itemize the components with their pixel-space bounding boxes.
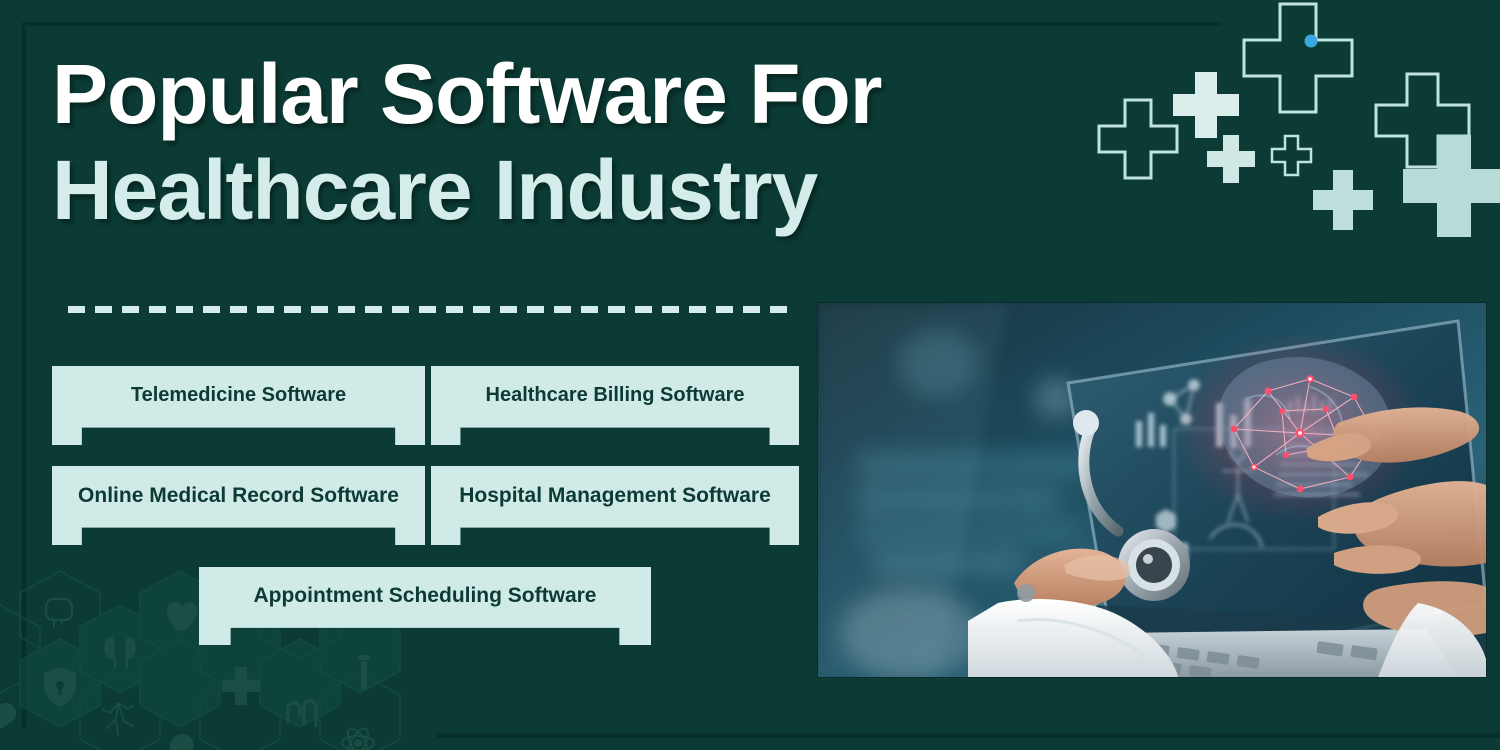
stethoscope-earpiece [1073,410,1099,436]
software-item-telemedicine[interactable]: Telemedicine Software [52,366,425,445]
frame-left-line [22,22,26,728]
heart-icon [167,602,198,631]
cross-outline-small [1272,136,1311,175]
infographic-canvas: Popular Software For Healthcare Industry… [0,0,1500,750]
software-item-healthcare-billing[interactable]: Healthcare Billing Software [431,366,799,445]
stethoscope-chestpiece [1118,529,1190,601]
software-item-label: Telemedicine Software [52,384,425,407]
test-tube-icon [358,655,370,689]
neuron-icon [102,703,134,735]
title-line-2: Healthcare Industry [52,142,1052,238]
software-item-hospital-management[interactable]: Hospital Management Software [431,466,799,545]
cross-decoration-cluster [1080,0,1500,245]
software-item-label: Appointment Scheduling Software [199,584,651,608]
blue-dot-icon [1305,35,1318,48]
software-item-appointment-scheduling[interactable]: Appointment Scheduling Software [199,567,651,645]
cross-outline-large [1244,4,1352,112]
frame-bottom-line [437,733,1500,738]
cross-filled-medium [1173,72,1239,138]
cross-outline-medium [1099,100,1177,178]
software-item-online-medical-record[interactable]: Online Medical Record Software [52,466,425,545]
cross-filled-large [1403,135,1500,237]
software-item-label: Online Medical Record Software [52,484,425,508]
pills-icon [0,703,16,732]
intestine-icon [288,701,316,727]
healthcare-technology-photo [818,303,1486,677]
medical-cross-icon [222,667,260,705]
atom-icon [342,726,374,750]
cross-filled-small [1207,135,1255,183]
title-line-1: Popular Software For [52,46,1052,142]
dashed-divider [68,306,788,313]
shield-lock-icon [44,667,76,707]
brain-icon [46,599,72,628]
cross-filled-bottom [1313,170,1373,230]
page-title: Popular Software For Healthcare Industry [52,46,1052,238]
software-item-label: Healthcare Billing Software [431,384,799,407]
software-item-label: Hospital Management Software [431,484,799,508]
stomach-icon [167,734,194,750]
kidneys-icon [104,637,135,669]
frame-top-line [22,22,1222,26]
